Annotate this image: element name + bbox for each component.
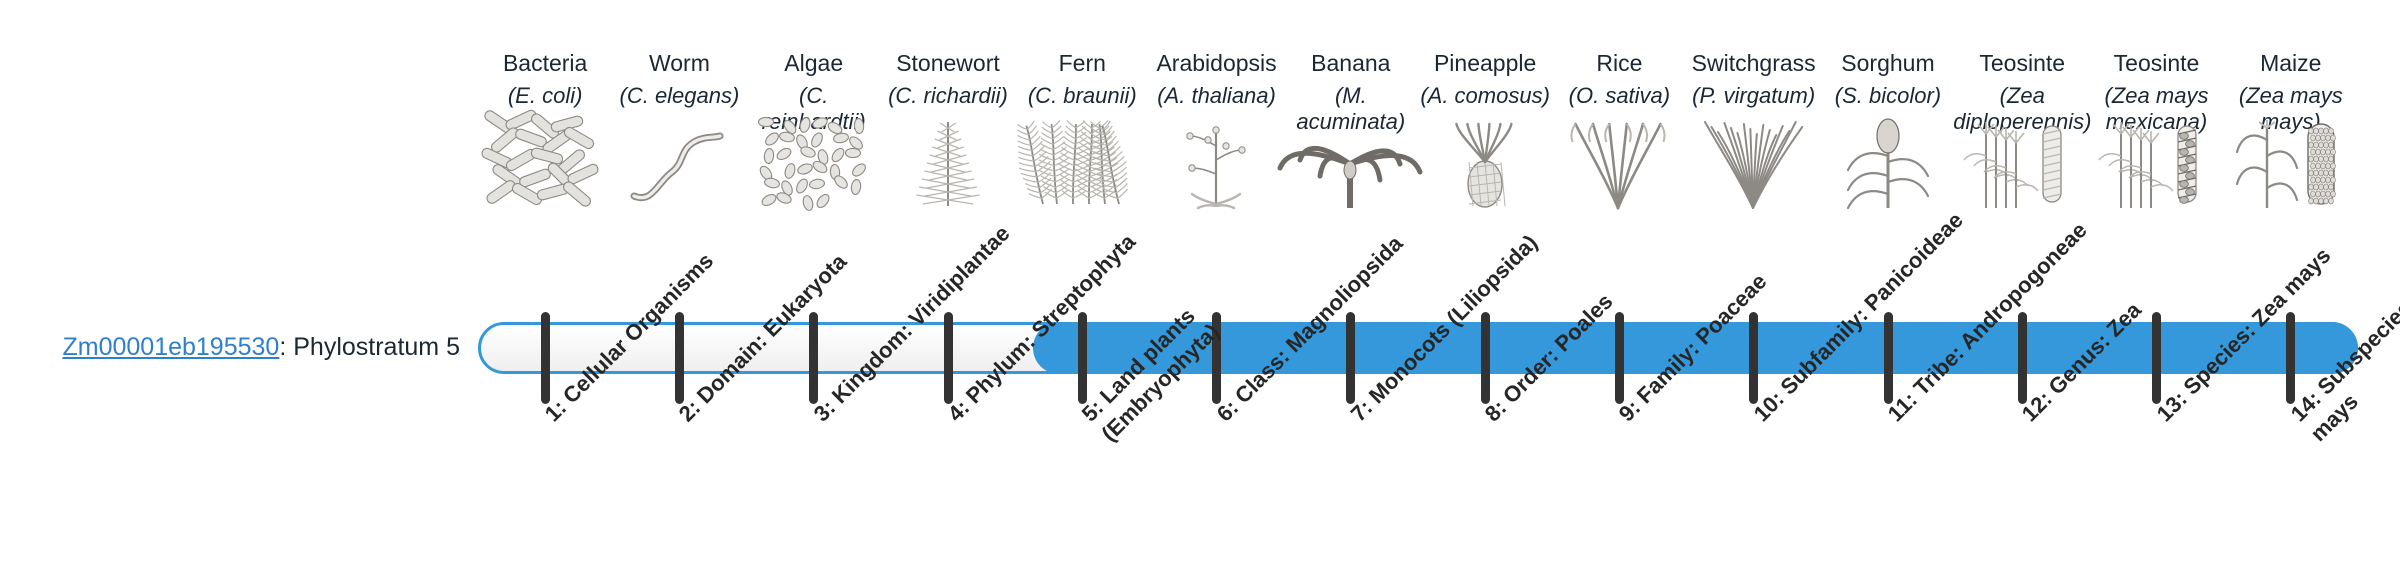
banana-illustration [1291,116,1411,208]
teosinte-diploperennis-illustration [1962,116,2082,208]
arabidopsis-illustration [1157,116,1277,208]
species-common-name: Switchgrass [1692,50,1816,77]
bacteria-illustration [485,116,605,208]
species-common-name: Teosinte [2114,50,2200,77]
maize-illustration [2231,116,2351,208]
sorghum-illustration [1828,116,1948,208]
species-common-name: Stonewort [896,50,1000,77]
phylostratum-value-text: Phylostratum 5 [293,333,460,361]
species-scientific-name: (C. richardii) [888,83,1008,109]
species-common-name: Maize [2260,50,2321,77]
species-scientific-name: (S. bicolor) [1835,83,1941,109]
species-common-name: Rice [1596,50,1642,77]
stratum-rank-labels: 1: Cellular Organisms2: Domain: Eukaryot… [478,408,2358,580]
species-common-name: Worm [649,50,710,77]
species-common-name: Algae [784,50,843,77]
species-scientific-name: (O. sativa) [1569,83,1670,109]
algae-illustration [754,116,874,208]
switchgrass-illustration [1694,116,1814,208]
species-common-name: Bacteria [503,50,587,77]
species-scientific-name: (C. braunii) [1028,83,1137,109]
species-scientific-name: (A. thaliana) [1157,83,1276,109]
fern-illustration [1022,116,1142,208]
species-common-name: Banana [1311,50,1390,77]
species-scientific-name: (P. virgatum) [1692,83,1815,109]
stonewort-illustration [888,116,1008,208]
teosinte-mexicana-illustration [2097,116,2217,208]
species-common-name: Pineapple [1434,50,1536,77]
species-column: Bacteria(E. coli) [478,50,612,320]
phylostratum-figure: Zm00001eb195530: Phylostratum 5 Bacteria… [0,0,2400,580]
worm-illustration [619,116,739,208]
species-common-name: Arabidopsis [1156,50,1276,77]
pineapple-illustration [1425,116,1545,208]
species-header-row: Bacteria(E. coli)Worm(C. elegans)Algae(C… [478,50,2358,320]
species-common-name: Teosinte [1979,50,2065,77]
gene-phylostratum-label: Zm00001eb195530: Phylostratum 5 [40,332,460,362]
rice-illustration [1559,116,1679,208]
species-common-name: Sorghum [1841,50,1934,77]
gene-id-link[interactable]: Zm00001eb195530 [62,333,279,361]
species-scientific-name: (A. comosus) [1420,83,1550,109]
species-common-name: Fern [1059,50,1106,77]
species-scientific-name: (E. coli) [508,83,583,109]
species-scientific-name: (C. elegans) [620,83,740,109]
gene-label-separator: : [279,333,293,361]
